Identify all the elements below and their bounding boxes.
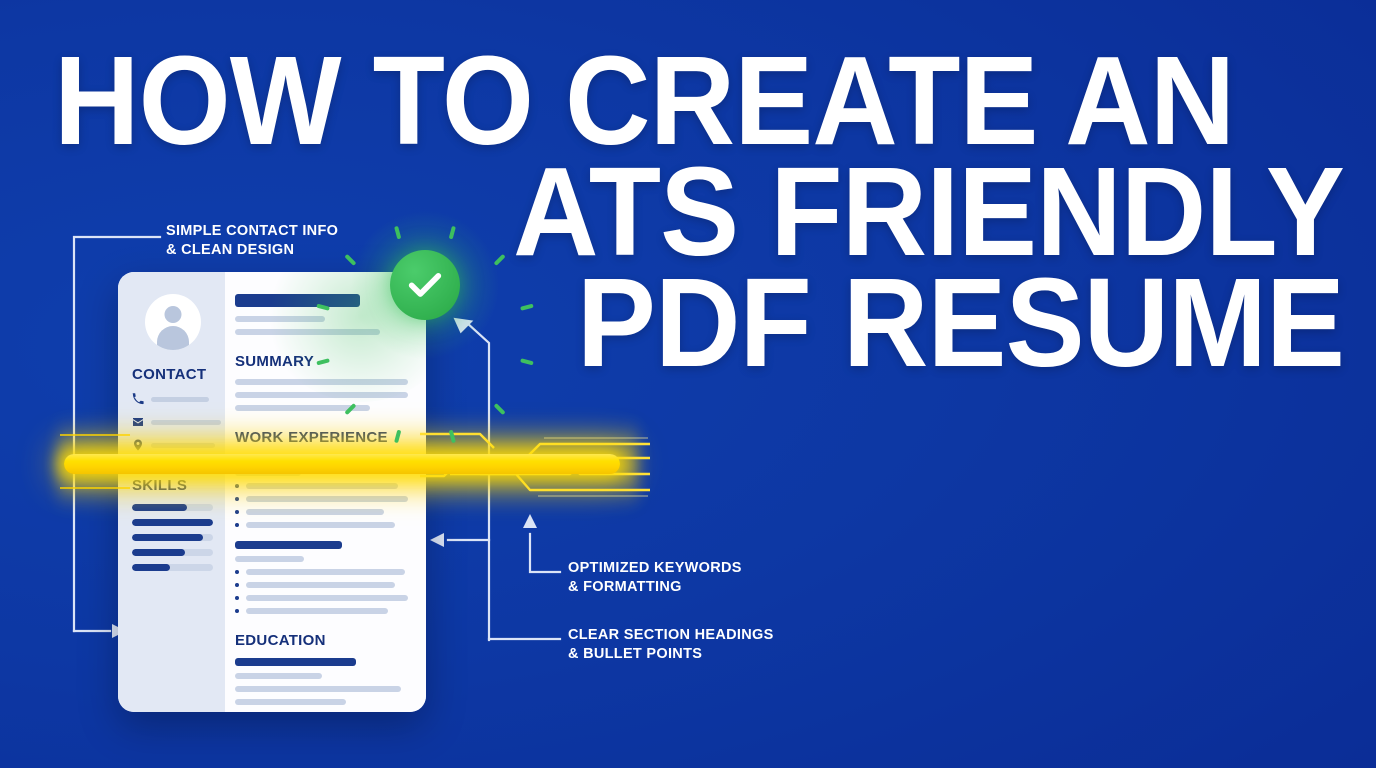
bullet-item: [235, 509, 408, 515]
check-icon: [405, 265, 445, 305]
job-title-bar: [235, 455, 335, 463]
phone-icon: [132, 393, 144, 405]
bullet-item: [235, 582, 408, 588]
bullet-item: [235, 569, 408, 575]
skill-bar: [132, 564, 213, 571]
bullet-item: [235, 483, 408, 489]
envelope-icon: [132, 416, 144, 428]
badge-ray: [344, 254, 356, 266]
job-title-bar: [235, 541, 342, 549]
callout-line-2: & BULLET POINTS: [568, 645, 774, 664]
badge-ray: [494, 403, 506, 415]
sidebar-heading-skills: SKILLS: [132, 477, 213, 494]
callout-simple-contact-info: SIMPLE CONTACT INFO & CLEAN DESIGN: [166, 222, 338, 259]
bullet-item: [235, 522, 408, 528]
avatar: [145, 294, 201, 350]
skill-bar: [132, 549, 213, 556]
bullet-item: [235, 496, 408, 502]
contact-value-bar: [151, 397, 209, 402]
bullet-item: [235, 608, 408, 614]
skill-bar: [132, 504, 213, 511]
callout-line-2: & CLEAN DESIGN: [166, 241, 338, 260]
contact-row: [132, 439, 213, 451]
avatar-head: [164, 306, 181, 323]
skill-bar-list: [132, 504, 213, 571]
skill-bar: [132, 519, 213, 526]
location-pin-icon: [132, 439, 144, 451]
contact-value-bar: [151, 443, 215, 448]
badge-ray: [394, 226, 401, 240]
badge-ray: [449, 430, 456, 444]
green-check-badge: [355, 215, 495, 355]
callout-line-2: & FORMATTING: [568, 578, 742, 597]
name-band: [235, 294, 360, 307]
header-line: [235, 316, 325, 322]
skill-bar: [132, 534, 213, 541]
resume-sidebar: CONTACT SKILLS: [118, 272, 225, 712]
badge-ray: [494, 254, 506, 266]
badge-circle: [390, 250, 460, 320]
job-sub-bar: [235, 470, 301, 476]
callout-line-1: SIMPLE CONTACT INFO: [166, 223, 338, 239]
callout-clear-section-headings: CLEAR SECTION HEADINGS & BULLET POINTS: [568, 626, 774, 663]
laser-circuit-traces: [420, 408, 650, 518]
headline-line-1: HOW TO CREATE AN: [54, 46, 1267, 157]
contact-value-bar: [151, 420, 221, 425]
bullet-item: [235, 595, 408, 601]
contact-row: [132, 393, 213, 405]
connector-keywords: [530, 534, 560, 572]
contact-row: [132, 416, 213, 428]
callout-optimized-keywords: OPTIMIZED KEYWORDS & FORMATTING: [568, 559, 742, 596]
summary-line: [235, 392, 408, 398]
badge-ray: [449, 226, 456, 240]
sidebar-heading-contact: CONTACT: [132, 366, 213, 383]
education-line: [235, 699, 346, 705]
connector-badge: [466, 322, 489, 640]
callout-line-1: OPTIMIZED KEYWORDS: [568, 560, 742, 576]
arrowhead-card-left: [430, 533, 444, 547]
summary-line: [235, 379, 408, 385]
arrowhead-keywords: [523, 514, 537, 528]
job-sub-bar: [235, 556, 304, 562]
callout-line-1: CLEAR SECTION HEADINGS: [568, 627, 774, 643]
education-title-bar: [235, 658, 356, 666]
badge-ray: [520, 358, 534, 365]
section-heading-work-experience: WORK EXPERIENCE: [235, 429, 408, 446]
education-line: [235, 673, 322, 679]
avatar-body: [157, 326, 189, 350]
badge-ray: [520, 304, 534, 311]
education-line: [235, 686, 401, 692]
section-heading-education: EDUCATION: [235, 632, 408, 649]
